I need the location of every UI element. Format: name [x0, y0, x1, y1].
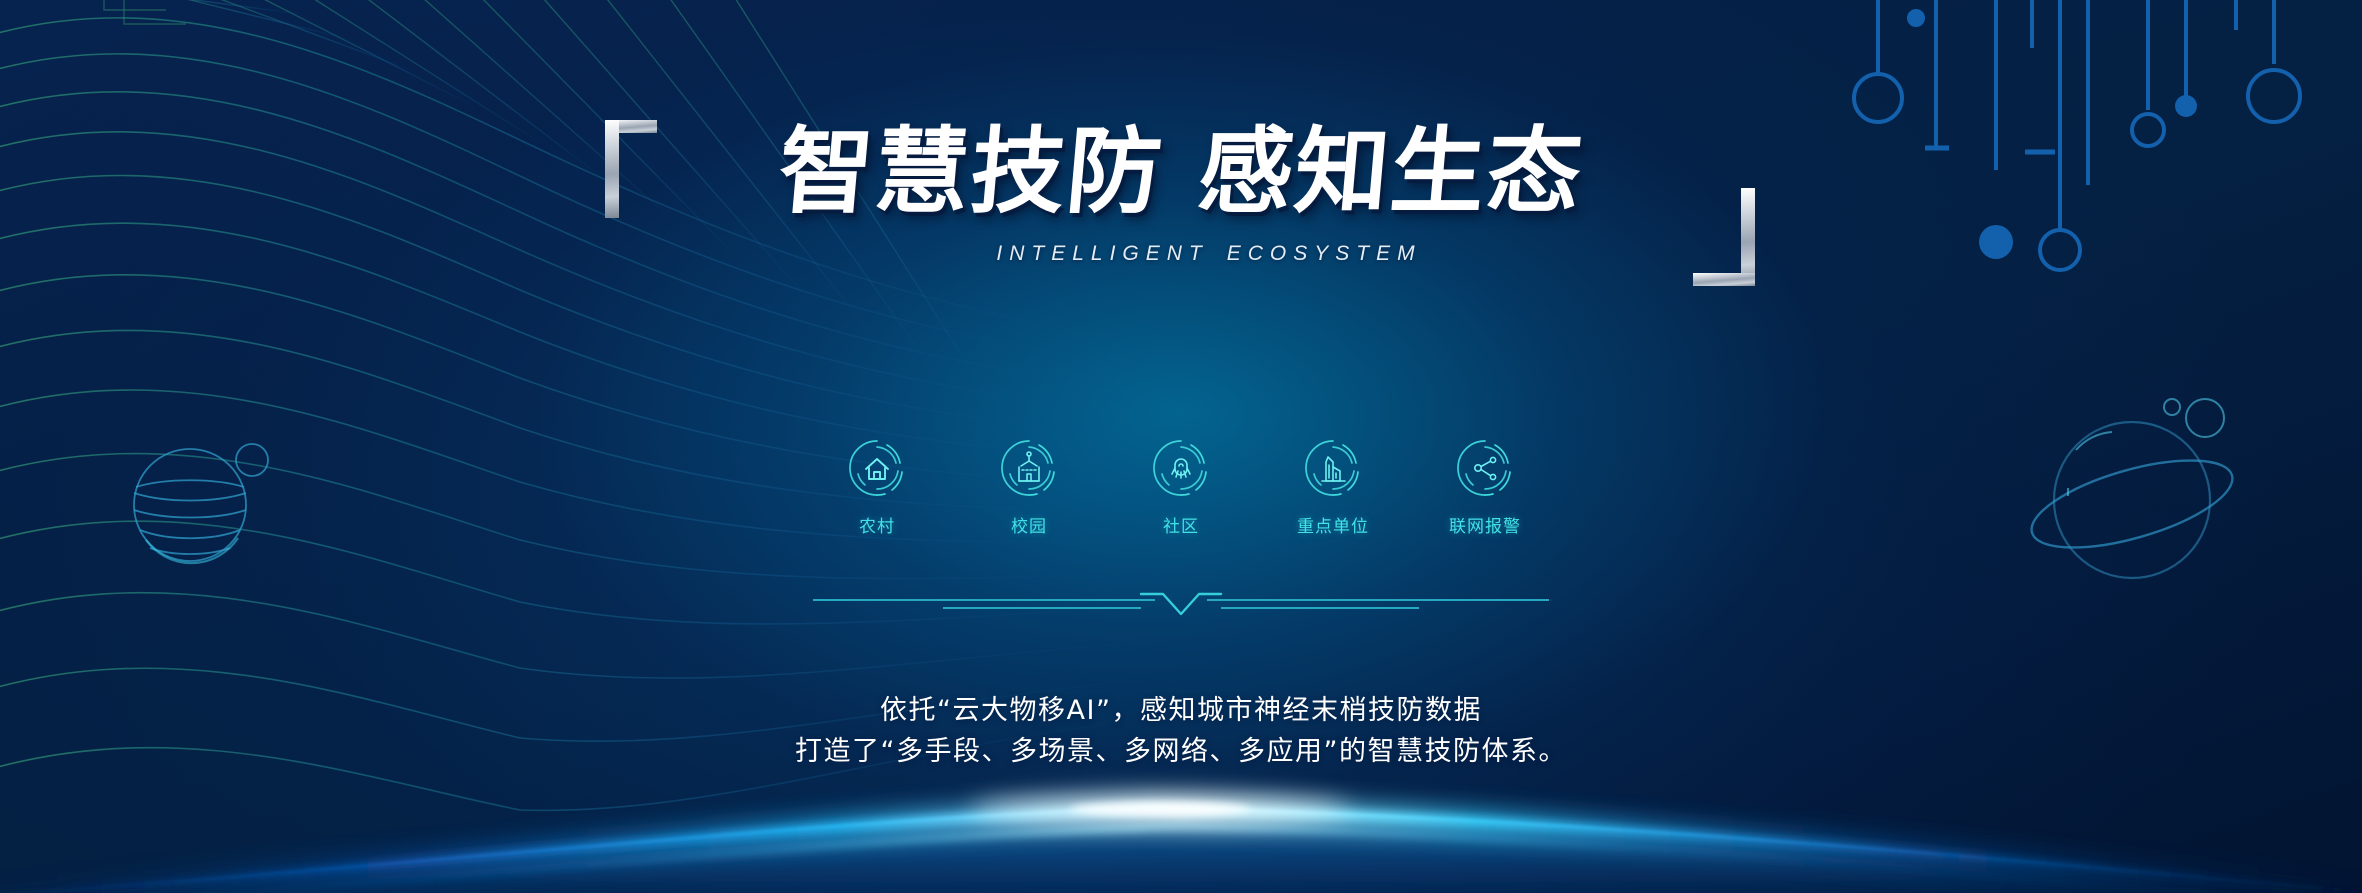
divider — [811, 584, 1551, 618]
share-network-icon — [1455, 438, 1515, 498]
category-icon-row: 农村 — [838, 438, 1524, 537]
headline-part1: 智慧技防 — [774, 118, 1168, 227]
community-icon — [1151, 438, 1211, 498]
bracket-open-mark — [599, 120, 655, 238]
subtitle-right: ECOSYSTEM — [1227, 242, 1422, 265]
banner-content: 智慧技防感知生态 INTELLIGENTECOSYSTEM — [0, 0, 2362, 893]
description-line-1: 依托“云大物移AI”，感知城市神经末梢技防数据 — [581, 690, 1781, 731]
page-subtitle: INTELLIGENTECOSYSTEM — [996, 242, 1421, 266]
category-label: 联网报警 — [1449, 512, 1521, 537]
category-label: 社区 — [1163, 512, 1199, 537]
category-item-key-units[interactable]: 重点单位 — [1294, 438, 1372, 537]
description-block: 依托“云大物移AI”，感知城市神经末梢技防数据 打造了“多手段、多场景、多网络、… — [581, 690, 1781, 772]
category-item-community[interactable]: 社区 — [1142, 438, 1220, 537]
description-line-2: 打造了“多手段、多场景、多网络、多应用”的智慧技防体系。 — [581, 731, 1781, 772]
category-item-network-alarm[interactable]: 联网报警 — [1446, 438, 1524, 537]
category-label: 校园 — [1011, 512, 1047, 537]
house-icon — [847, 438, 907, 498]
category-item-campus[interactable]: 校园 — [990, 438, 1068, 537]
headline-part2: 感知生态 — [1194, 118, 1588, 227]
school-icon — [999, 438, 1059, 498]
category-item-rural[interactable]: 农村 — [838, 438, 916, 537]
bracket-close-mark — [1699, 168, 1755, 286]
category-label: 农村 — [859, 512, 895, 537]
title-block: 智慧技防感知生态 INTELLIGENTECOSYSTEM — [651, 126, 1711, 266]
subtitle-left: INTELLIGENT — [996, 242, 1208, 265]
page-title: 智慧技防感知生态 — [775, 126, 1587, 220]
headline-row: 智慧技防感知生态 — [651, 126, 1711, 220]
buildings-icon — [1303, 438, 1363, 498]
category-label: 重点单位 — [1297, 512, 1369, 537]
banner-root: 智慧技防感知生态 INTELLIGENTECOSYSTEM — [0, 0, 2362, 893]
